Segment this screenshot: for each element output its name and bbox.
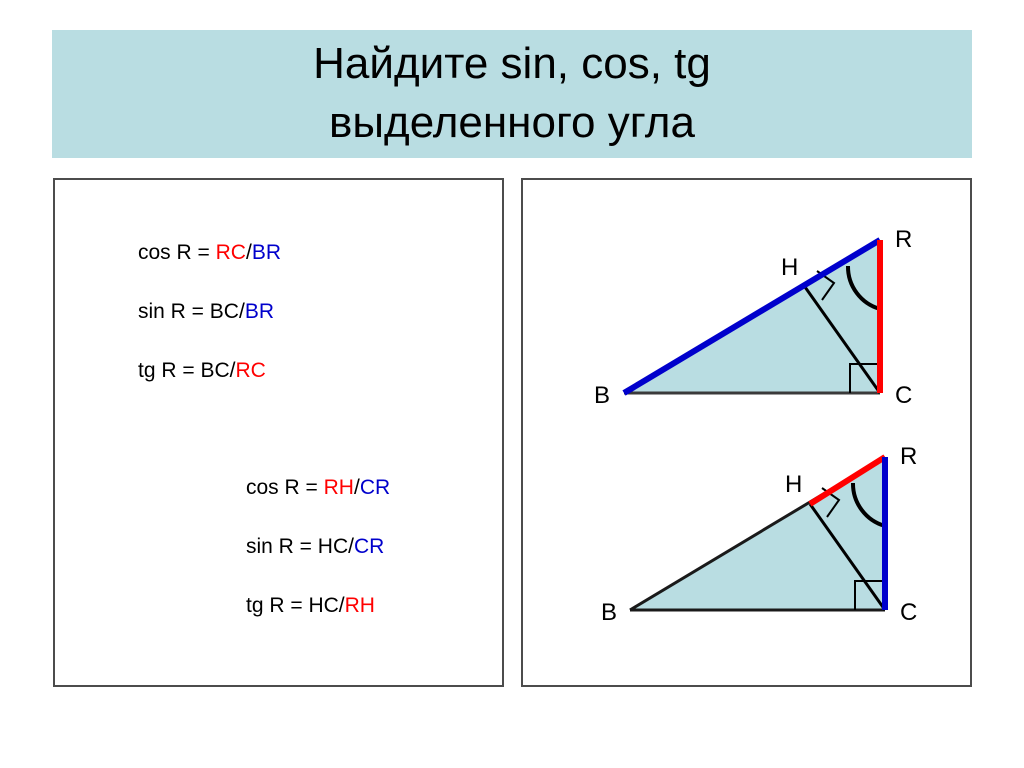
formula-lhs: cos R =: [138, 241, 216, 264]
formula-cos-r-2: cos R = RH/CR: [246, 477, 390, 498]
slide-canvas: Найдите sin, cos, tg выделенного угла co…: [0, 0, 1024, 768]
page-title: Найдите sin, cos, tg выделенного угла: [313, 35, 711, 152]
formula-lhs: tg R =: [138, 359, 200, 382]
formula-sin-r-1: sin R = BC/BR: [138, 301, 281, 322]
formula-numerator: BC: [200, 359, 229, 382]
formula-numerator: HC: [308, 594, 338, 617]
formula-denominator: RC: [235, 359, 265, 382]
figures-panel: B C R H: [521, 178, 972, 687]
formula-denominator: BR: [252, 241, 281, 264]
formula-numerator: RH: [324, 476, 354, 499]
bottom-vertex-label-c: C: [900, 601, 917, 625]
formula-numerator: BC: [210, 300, 239, 323]
formula-denominator: RH: [345, 594, 375, 617]
bottom-vertex-label-b: B: [601, 601, 617, 625]
formula-lhs: tg R =: [246, 594, 308, 617]
formula-lhs: sin R =: [138, 300, 210, 323]
formula-tg-r-2: tg R = HC/RH: [246, 595, 390, 616]
formula-denominator: BR: [245, 300, 274, 323]
formula-cos-r-1: cos R = RC/BR: [138, 242, 281, 263]
formula-lhs: sin R =: [246, 535, 318, 558]
formula-numerator: HC: [318, 535, 348, 558]
bottom-vertex-label-h: H: [785, 473, 802, 497]
formula-lhs: cos R =: [246, 476, 324, 499]
formula-group-first-triangle: cos R = RC/BR sin R = BC/BR tg R = BC/RC: [138, 242, 281, 381]
bottom-vertex-label-r: R: [900, 445, 917, 469]
figure-bottom-triangle: B C R H: [523, 180, 970, 685]
title-banner: Найдите sin, cos, tg выделенного угла: [52, 30, 972, 158]
formula-group-second-triangle: cos R = RH/CR sin R = HC/CR tg R = HC/RH: [246, 477, 390, 616]
formula-denominator: CR: [354, 535, 384, 558]
formula-sin-r-2: sin R = HC/CR: [246, 536, 390, 557]
formula-denominator: CR: [360, 476, 390, 499]
formula-tg-r-1: tg R = BC/RC: [138, 360, 281, 381]
formula-panel: cos R = RC/BR sin R = BC/BR tg R = BC/RC…: [53, 178, 504, 687]
formula-numerator: RC: [216, 241, 246, 264]
